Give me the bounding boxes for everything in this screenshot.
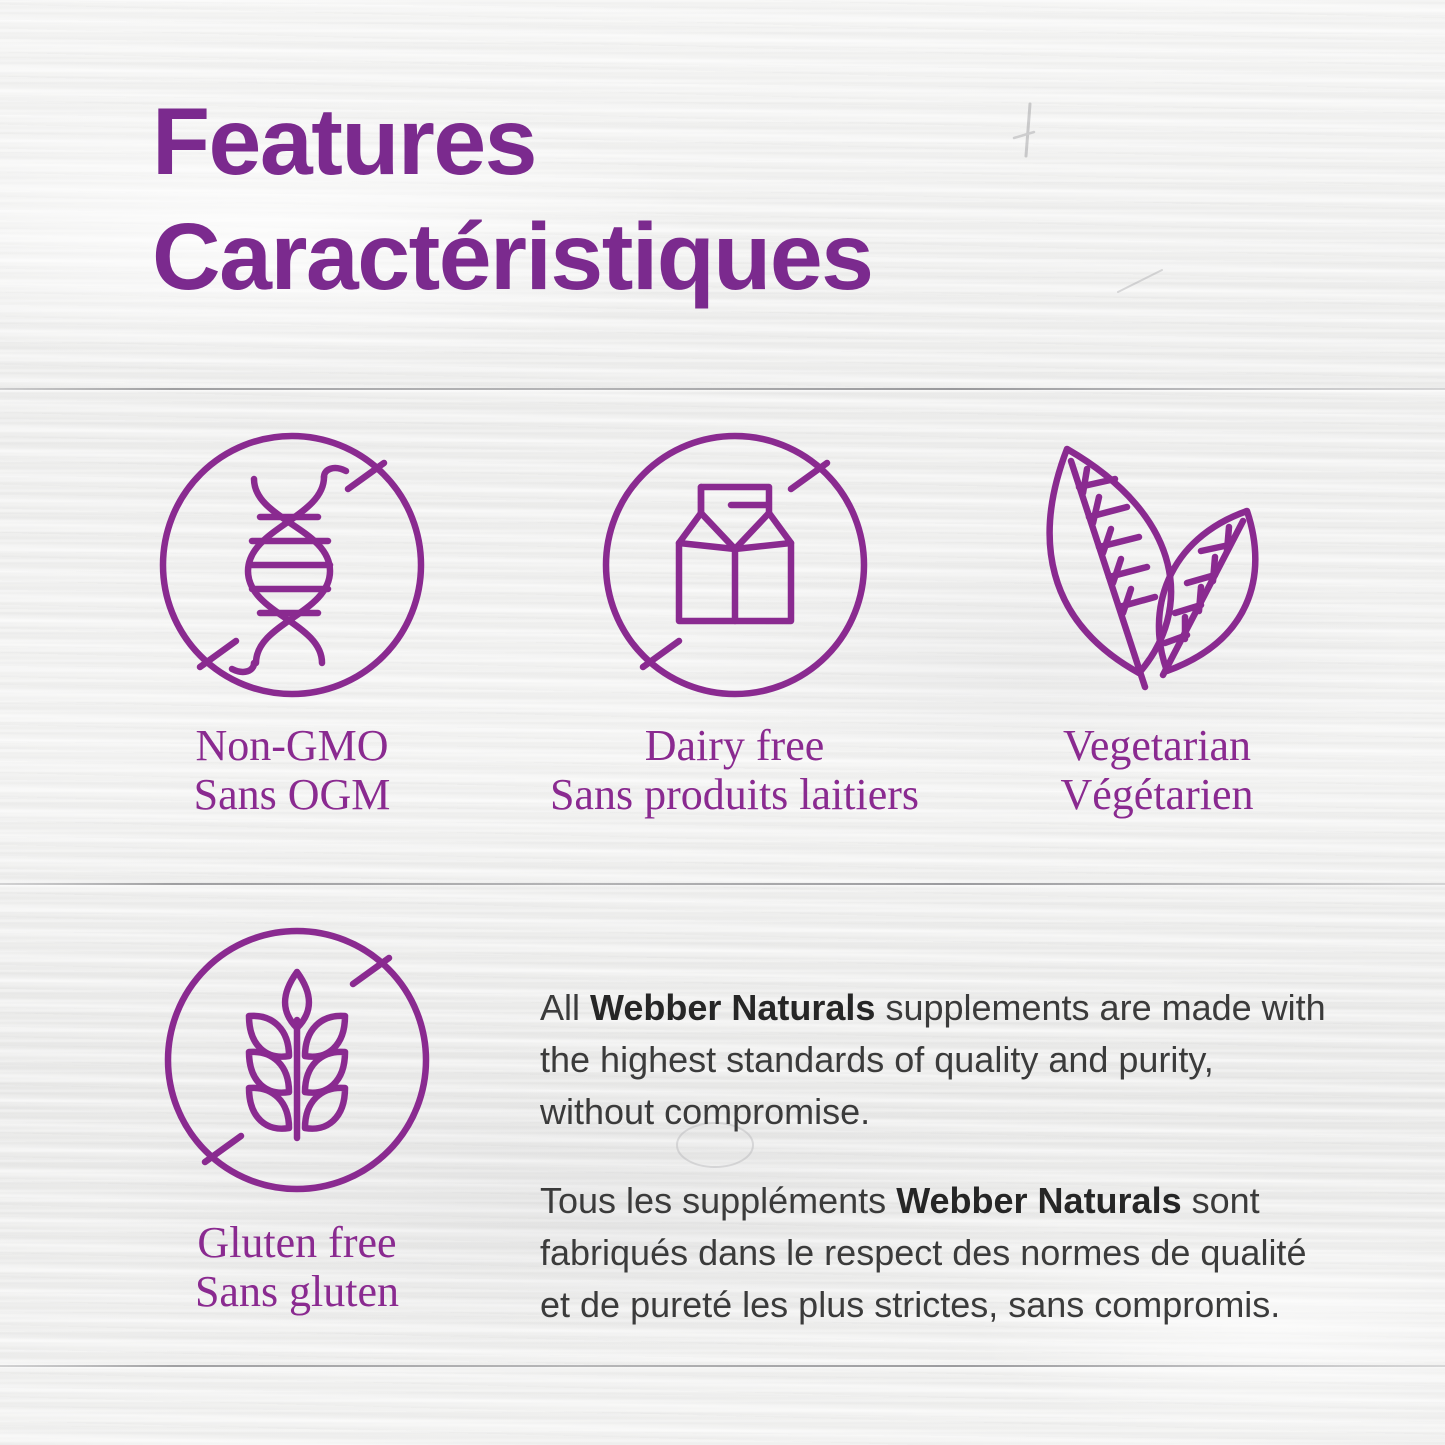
- feature-badge-dairy-free: Dairy free Sans produits laitiers: [512, 425, 957, 820]
- page-title-fr: Caractéristiques: [152, 211, 1292, 304]
- feature-badge-non-gmo: Non-GMO Sans OGM: [72, 425, 512, 820]
- brand-name-fr: Webber Naturals: [896, 1180, 1181, 1221]
- copy-fr-before: Tous les suppléments: [540, 1180, 896, 1221]
- feature-label-en: Vegetarian: [1061, 721, 1254, 770]
- page-title: Features Caractéristiques: [152, 96, 1292, 304]
- brand-name-en: Webber Naturals: [590, 987, 875, 1028]
- feature-badge-gluten-free: Gluten free Sans gluten: [152, 920, 442, 1317]
- feature-label-en: Dairy free: [550, 721, 919, 770]
- brand-copy-fr: Tous les suppléments Webber Naturals son…: [540, 1175, 1330, 1330]
- brand-copy-block: All Webber Naturals supplements are made…: [540, 982, 1330, 1331]
- feature-badge-row: Non-GMO Sans OGM: [0, 425, 1445, 820]
- page-title-en: Features: [152, 96, 1292, 189]
- feature-label-en: Non-GMO: [194, 721, 391, 770]
- feature-badge-label: Gluten free Sans gluten: [195, 1218, 399, 1317]
- no-dairy-carton-icon: [595, 425, 875, 705]
- no-gmo-dna-icon: [152, 425, 432, 705]
- feature-label-fr: Sans OGM: [194, 770, 391, 819]
- feature-label-en: Gluten free: [195, 1218, 399, 1267]
- feature-badge-label: Non-GMO Sans OGM: [194, 721, 391, 820]
- copy-en-before: All: [540, 987, 590, 1028]
- feature-badge-vegetarian: Vegetarian Végétarien: [957, 425, 1357, 820]
- brand-copy-en: All Webber Naturals supplements are made…: [540, 982, 1330, 1137]
- feature-badge-label: Dairy free Sans produits laitiers: [550, 721, 919, 820]
- feature-infographic: Features Caractéristiques: [0, 0, 1445, 1445]
- feature-label-fr: Végétarien: [1061, 770, 1254, 819]
- feature-label-fr: Sans produits laitiers: [550, 770, 919, 819]
- feature-label-fr: Sans gluten: [195, 1267, 399, 1316]
- feature-badge-label: Vegetarian Végétarien: [1061, 721, 1254, 820]
- vegetarian-leaves-icon: [1017, 425, 1297, 705]
- no-gluten-wheat-icon: [157, 920, 437, 1200]
